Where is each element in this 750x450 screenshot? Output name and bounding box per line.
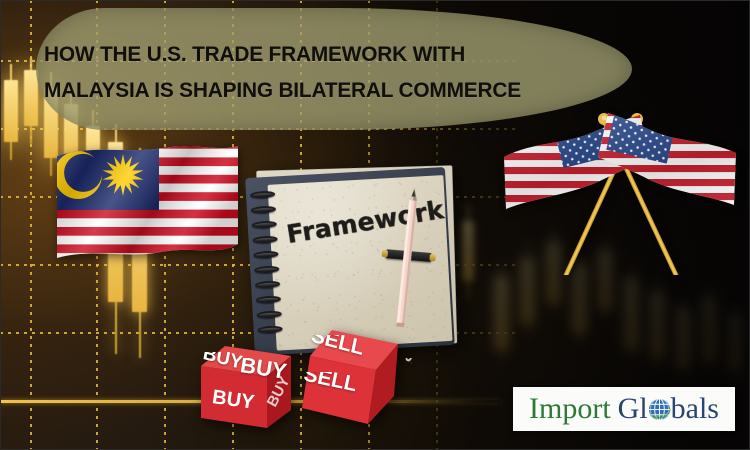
logo-word-import: Import [529, 392, 611, 425]
logo-word-gl: Gl [618, 392, 648, 425]
logo-wordmark: ImportGl bals [529, 394, 719, 424]
malaysia-flag [55, 140, 240, 262]
import-globals-logo[interactable]: ImportGl bals [513, 387, 735, 431]
page-title: HOW THE U.S. TRADE FRAMEWORK WITH MALAYS… [44, 36, 626, 108]
us-flags-crossed [500, 105, 740, 275]
logo-word-bals: bals [671, 392, 719, 425]
headline-line-2: MALAYSIA IS SHAPING BILATERAL COMMERCE [44, 72, 626, 108]
promo-banner-image: HOW THE U.S. TRADE FRAMEWORK WITH MALAYS… [0, 0, 750, 450]
headline-line-1: HOW THE U.S. TRADE FRAMEWORK WITH [44, 36, 626, 72]
dice-sell-text-side: SELL [372, 358, 412, 402]
globe-icon [647, 397, 672, 422]
